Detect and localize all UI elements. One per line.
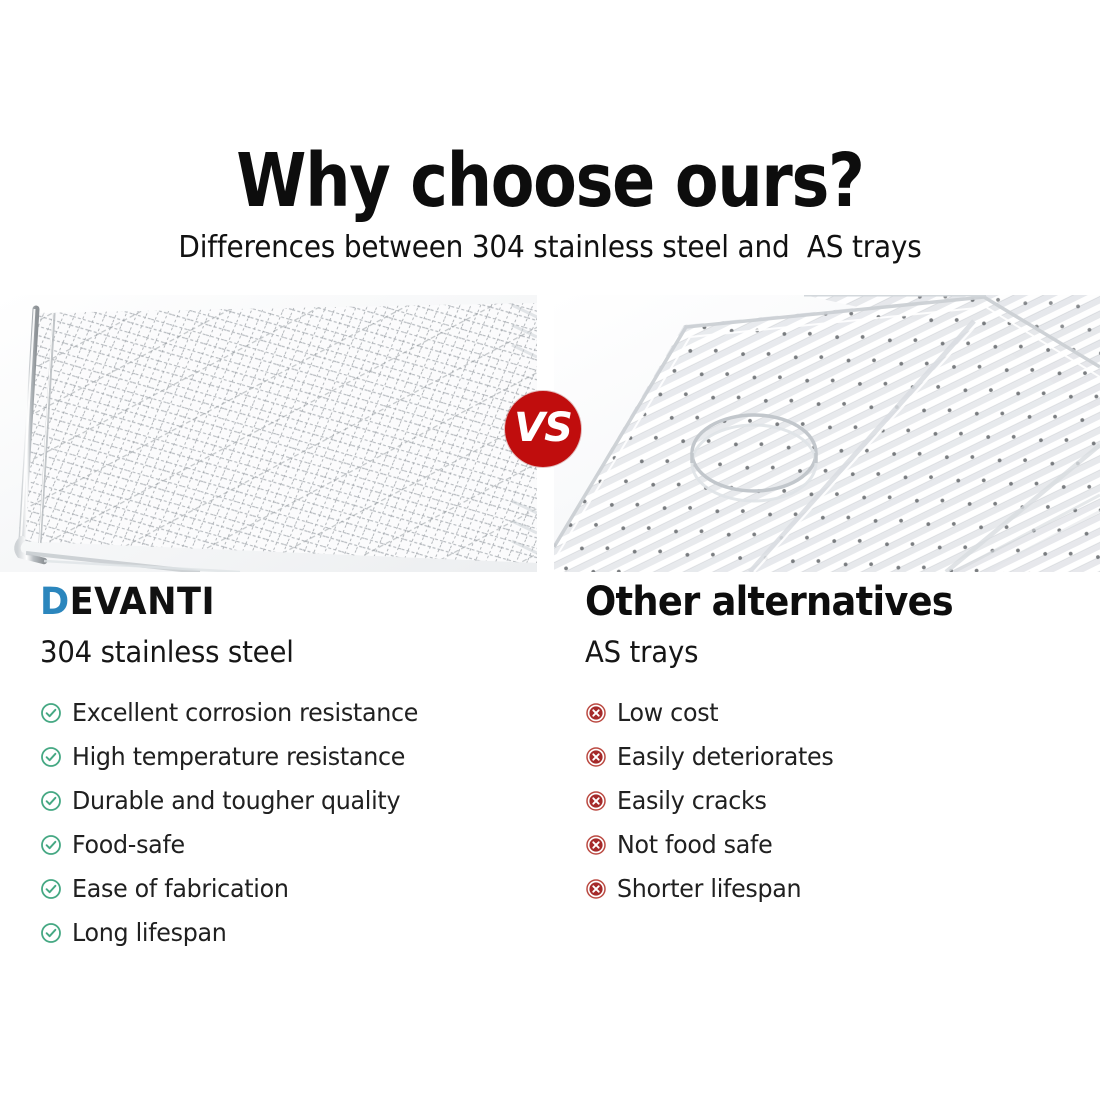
- x-circle-icon: [585, 878, 607, 900]
- stainless-steel-mesh-tray-photo: [0, 295, 537, 572]
- list-item-label: Shorter lifespan: [617, 874, 801, 904]
- list-item: Shorter lifespan: [585, 867, 1075, 911]
- alternatives-subheading: AS trays: [585, 635, 1051, 669]
- vs-badge-label: VS: [514, 408, 572, 448]
- page-title: Why choose ours?: [77, 140, 1023, 222]
- devanti-logo: DEVANTI: [40, 580, 515, 624]
- list-item: Long lifespan: [40, 911, 540, 955]
- x-circle-icon: [585, 746, 607, 768]
- infographic-page: Why choose ours? Differences between 304…: [0, 0, 1100, 1100]
- list-item-label: Easily deteriorates: [617, 742, 833, 772]
- list-item-label: Excellent corrosion resistance: [72, 698, 418, 728]
- check-circle-icon: [40, 878, 62, 900]
- list-item-label: High temperature resistance: [72, 742, 405, 772]
- list-item: Easily deteriorates: [585, 735, 1075, 779]
- header: Why choose ours? Differences between 304…: [0, 140, 1100, 266]
- list-item-label: Ease of fabrication: [72, 874, 289, 904]
- vs-badge: VS: [505, 391, 581, 467]
- list-item: Low cost: [585, 691, 1075, 735]
- devanti-logo-rest: EVANTI: [70, 580, 215, 623]
- page-subtitle: Differences between 304 stainless steel …: [39, 230, 1062, 266]
- comparison-columns: DEVANTI 304 stainless steel Excellent co…: [0, 580, 1100, 980]
- list-item: Food-safe: [40, 823, 540, 867]
- x-circle-icon: [585, 702, 607, 724]
- devanti-subheading: 304 stainless steel: [40, 635, 515, 669]
- list-item-label: Food-safe: [72, 830, 185, 860]
- check-circle-icon: [40, 790, 62, 812]
- column-devanti: DEVANTI 304 stainless steel Excellent co…: [40, 580, 540, 955]
- list-item-label: Durable and tougher quality: [72, 786, 400, 816]
- plastic-as-tray-photo: [554, 295, 1100, 572]
- check-circle-icon: [40, 702, 62, 724]
- alternatives-feature-list: Low cost Easily deteriorates: [585, 691, 1075, 911]
- list-item: High temperature resistance: [40, 735, 540, 779]
- check-circle-icon: [40, 834, 62, 856]
- devanti-logo-initial: D: [40, 580, 70, 623]
- check-circle-icon: [40, 922, 62, 944]
- list-item-label: Long lifespan: [72, 918, 227, 948]
- list-item: Not food safe: [585, 823, 1075, 867]
- list-item: Excellent corrosion resistance: [40, 691, 540, 735]
- x-circle-icon: [585, 790, 607, 812]
- list-item-label: Low cost: [617, 698, 718, 728]
- list-item-label: Not food safe: [617, 830, 772, 860]
- check-circle-icon: [40, 746, 62, 768]
- list-item: Easily cracks: [585, 779, 1075, 823]
- column-alternatives: Other alternatives AS trays Low cost: [585, 580, 1075, 911]
- list-item: Ease of fabrication: [40, 867, 540, 911]
- list-item-label: Easily cracks: [617, 786, 767, 816]
- x-circle-icon: [585, 834, 607, 856]
- alternatives-heading: Other alternatives: [585, 580, 1036, 624]
- devanti-feature-list: Excellent corrosion resistance High temp…: [40, 691, 540, 955]
- list-item: Durable and tougher quality: [40, 779, 540, 823]
